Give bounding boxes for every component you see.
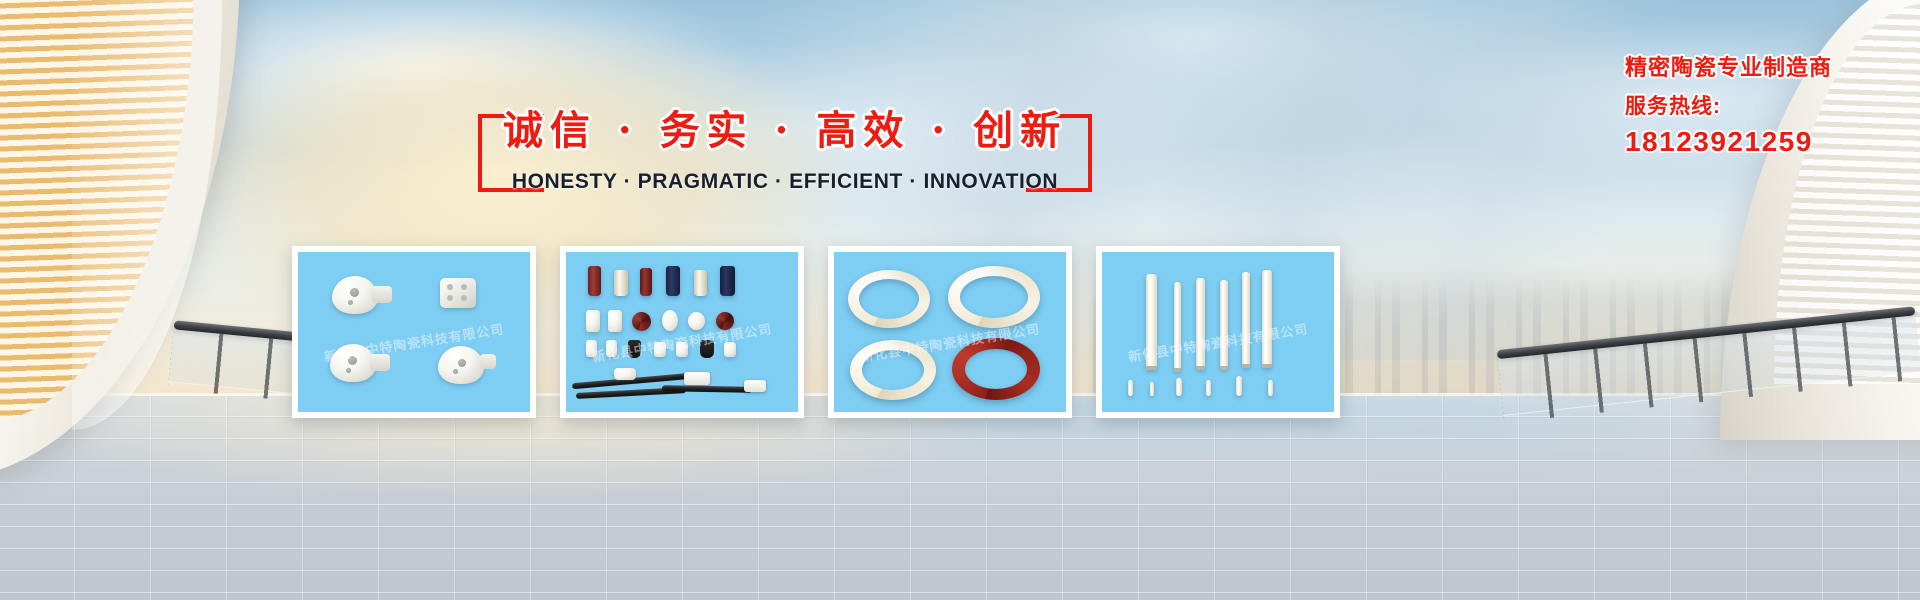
- company-tagline: 精密陶瓷专业制造商: [1625, 52, 1832, 84]
- promotional-banner: 诚信 · 务实 · 高效 · 创新 HONESTY · PRAGMATIC · …: [0, 0, 1920, 600]
- slogan-block: 诚信 · 务实 · 高效 · 创新 HONESTY · PRAGMATIC · …: [478, 104, 1092, 200]
- structure-inner-panel: [72, 0, 222, 430]
- product-panel-ceramic-rods[interactable]: 新化县中特陶瓷科技有限公司: [1096, 246, 1340, 418]
- slogan-chinese: 诚信 · 务实 · 高效 · 创新: [478, 104, 1092, 158]
- structure-wood-slats: [0, 0, 194, 422]
- product-panel-row: 新化县中特陶瓷科技有限公司: [292, 246, 1340, 418]
- product-panel-ceramic-rings[interactable]: 新化县中特陶瓷科技有限公司: [828, 246, 1072, 418]
- product-panel-tubes-cables[interactable]: 新化县中特陶瓷科技有限公司: [560, 246, 804, 418]
- product-panel-insulator-caps[interactable]: 新化县中特陶瓷科技有限公司: [292, 246, 536, 418]
- hotline-label: 服务热线:: [1625, 90, 1832, 124]
- slogan-english: HONESTY · PRAGMATIC · EFFICIENT · INNOVA…: [478, 168, 1092, 196]
- plaza-ground: [0, 396, 1920, 600]
- contact-block: 精密陶瓷专业制造商 服务热线: 18123921259: [1625, 52, 1832, 160]
- hotline-phone-number: 18123921259: [1625, 124, 1832, 160]
